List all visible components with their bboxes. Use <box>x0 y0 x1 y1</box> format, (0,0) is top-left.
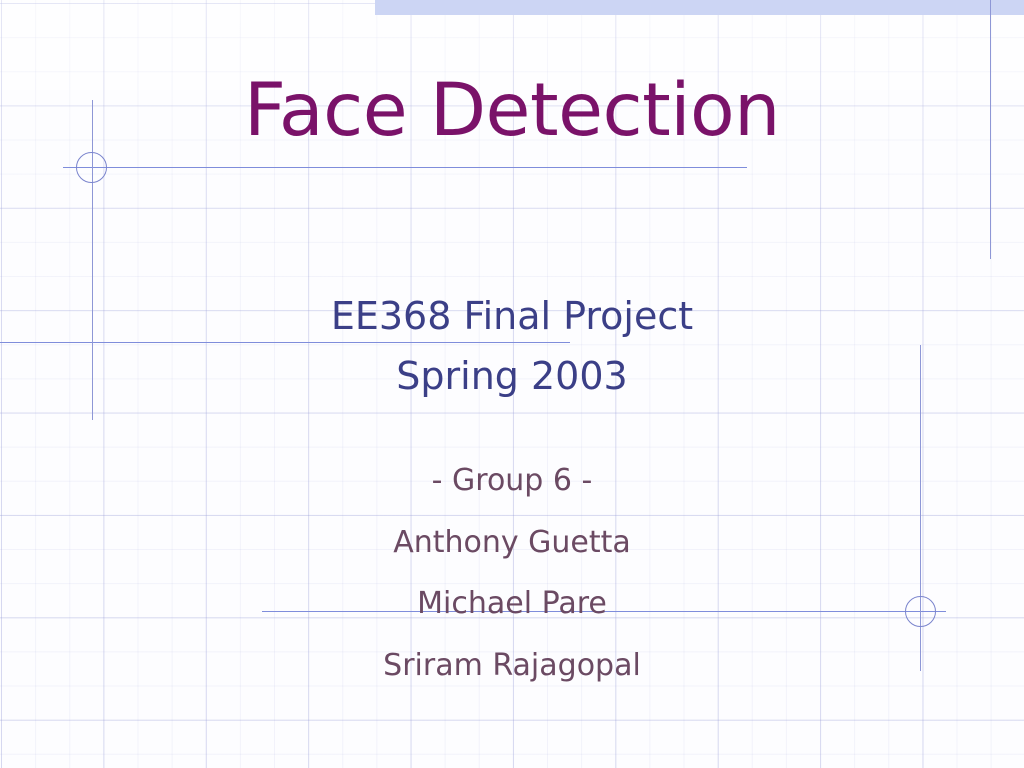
group-label: - Group 6 - <box>0 450 1024 512</box>
slide-subtitle: EE368 Final Project Spring 2003 <box>0 286 1024 406</box>
author-name-2: Michael Pare <box>0 573 1024 635</box>
title-underline-rule <box>63 167 747 168</box>
author-name-3: Sriram Rajagopal <box>0 635 1024 697</box>
author-name-1: Anthony Guetta <box>0 512 1024 574</box>
subtitle-line-term: Spring 2003 <box>0 346 1024 406</box>
circle-annotation-top-left-icon <box>76 152 107 183</box>
author-list: - Group 6 - Anthony Guetta Michael Pare … <box>0 450 1024 696</box>
presentation-slide: Face Detection EE368 Final Project Sprin… <box>0 0 1024 768</box>
subtitle-line-course: EE368 Final Project <box>0 286 1024 346</box>
slide-title: Face Detection <box>0 74 1024 147</box>
top-accent-band <box>375 0 1024 15</box>
